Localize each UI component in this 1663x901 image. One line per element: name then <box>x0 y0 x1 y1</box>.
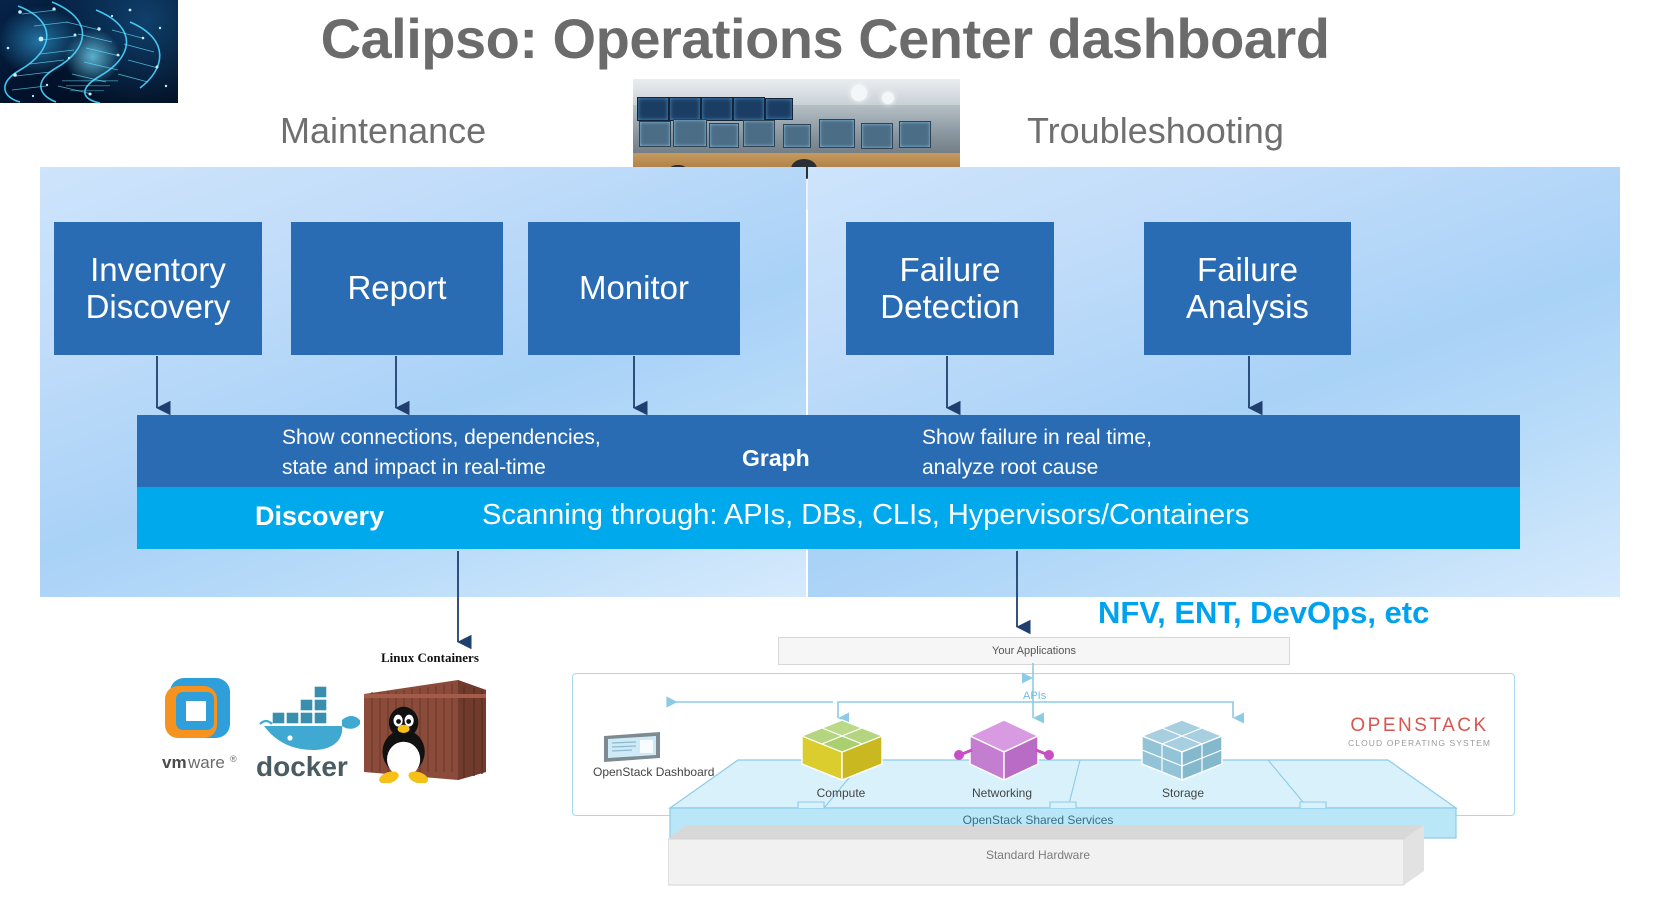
connector-arrows <box>0 0 1663 901</box>
nfv-caption: NFV, ENT, DevOps, etc <box>1098 595 1429 631</box>
